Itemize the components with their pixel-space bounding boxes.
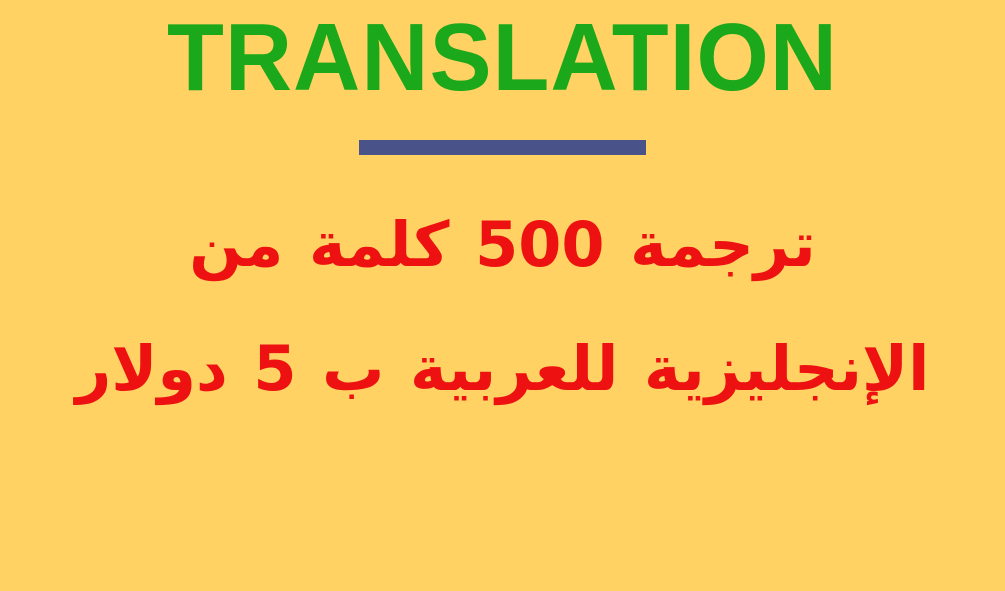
divider-container <box>0 140 1005 155</box>
arabic-offer-text: ترجمة 500 كلمة من الإنجليزية للعربية ب 5… <box>70 183 935 431</box>
page-title: TRANSLATION <box>15 2 990 114</box>
divider-rule <box>359 140 646 155</box>
body-copy-container: ترجمة 500 كلمة من الإنجليزية للعربية ب 5… <box>0 183 1005 431</box>
headline-container: TRANSLATION <box>0 2 1005 114</box>
translation-service-banner: TRANSLATION ترجمة 500 كلمة من الإنجليزية… <box>0 0 1005 591</box>
